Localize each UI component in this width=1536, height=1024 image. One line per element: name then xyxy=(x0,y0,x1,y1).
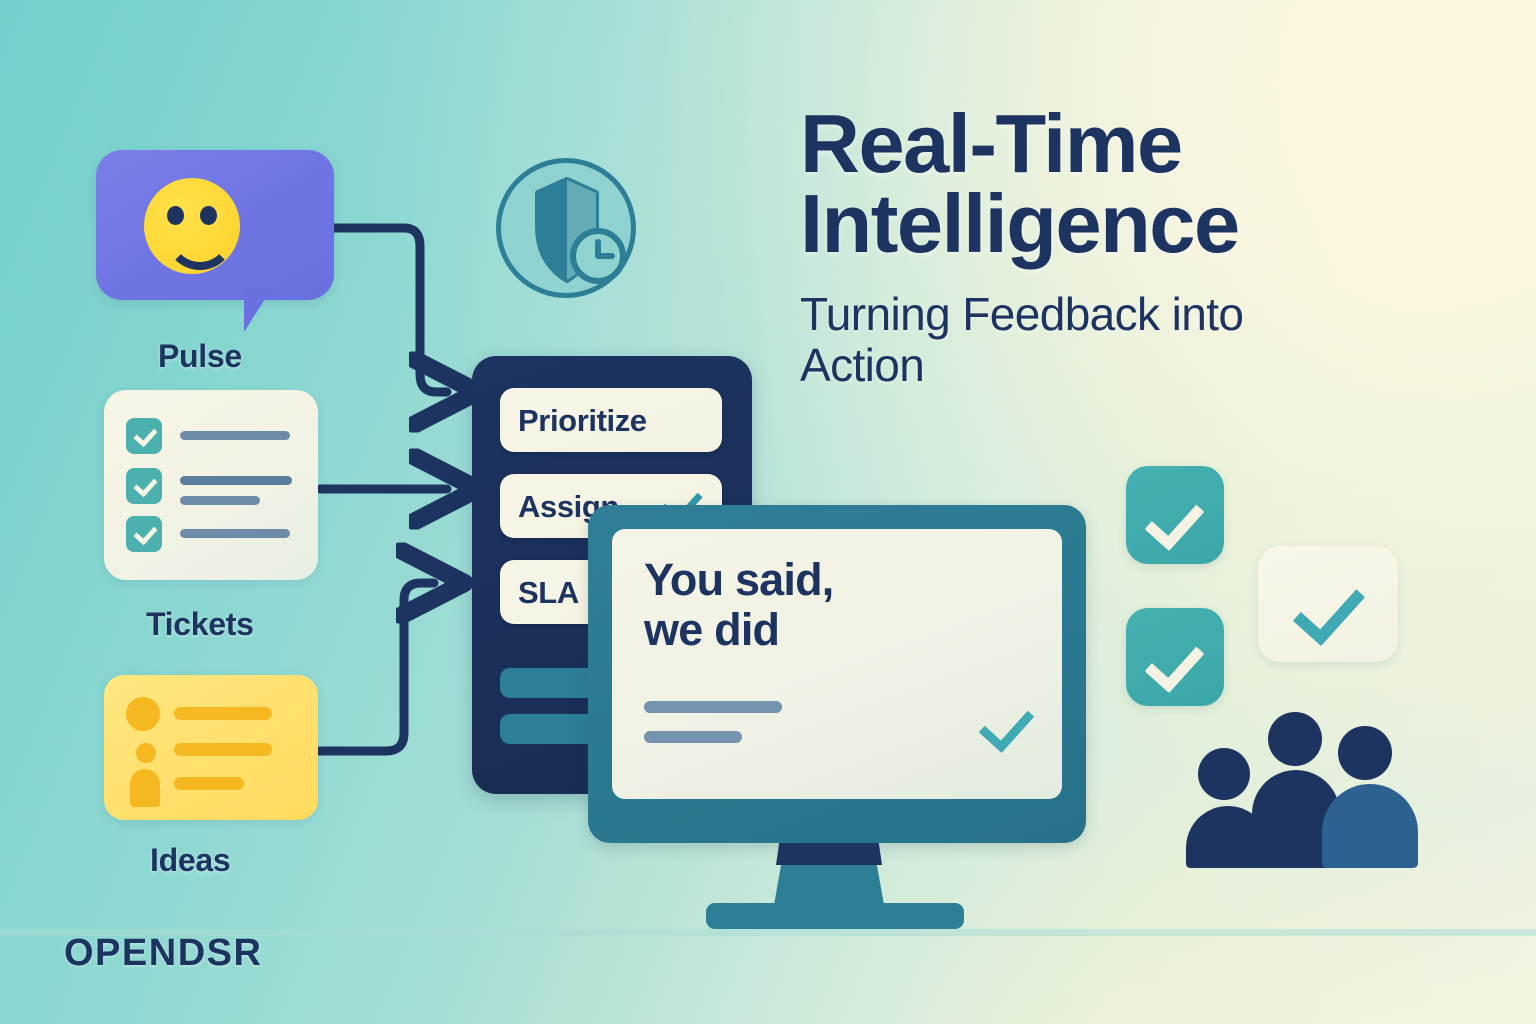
page-subtitle: Turning Feedback into Action xyxy=(800,289,1420,390)
ticket-checkbox-icon xyxy=(126,468,162,504)
shield-clock-glyph xyxy=(496,158,640,302)
person-head-left xyxy=(1198,748,1250,800)
shield-clock-icon xyxy=(496,158,640,302)
speech-bubble-tail xyxy=(244,288,278,332)
source-ideas-label: Ideas xyxy=(150,842,334,879)
monitor-screen: You said, we did xyxy=(612,529,1062,799)
people-group-icon xyxy=(1190,700,1440,870)
ticket-text-line xyxy=(180,476,292,485)
monitor-message: You said, we did xyxy=(644,555,834,654)
check-icon xyxy=(979,696,1035,753)
source-pulse-label: Pulse xyxy=(158,338,336,375)
smiley-speech-bubble-icon xyxy=(96,150,334,300)
connector-pulse xyxy=(334,228,447,392)
check-tile-1[interactable] xyxy=(1126,466,1224,564)
monitor-message-line1: You said, xyxy=(644,555,834,605)
check-tile-2[interactable] xyxy=(1126,608,1224,706)
ticket-text-line xyxy=(180,496,260,505)
check-icon xyxy=(1145,632,1205,693)
page-subtitle-line2: Action xyxy=(800,340,1420,391)
check-tile-3[interactable] xyxy=(1258,546,1398,662)
panel-chip-label: Prioritize xyxy=(518,405,647,436)
ticket-checkbox-icon xyxy=(126,516,162,552)
monitor-bezel: You said, we did xyxy=(588,505,1086,843)
brand-wordmark: OPENDSR xyxy=(64,932,262,975)
checklist-card-icon xyxy=(104,390,318,580)
smiley-face-icon xyxy=(144,178,240,274)
person-head-right xyxy=(1338,726,1392,780)
smiley-mouth xyxy=(165,224,235,270)
monitor-message-line2: we did xyxy=(644,605,834,655)
monitor-stand-neck-shadow xyxy=(776,843,882,865)
smiley-eye-right xyxy=(200,206,217,225)
idea-text-line xyxy=(174,707,272,720)
ticket-row xyxy=(126,468,162,504)
page-subtitle-line1: Turning Feedback into xyxy=(800,289,1420,340)
idea-bullet xyxy=(130,769,160,807)
ideas-list-card-icon xyxy=(104,675,318,820)
monitor-text-line xyxy=(644,731,742,743)
person-head-center xyxy=(1268,712,1322,766)
idea-text-line xyxy=(174,777,244,790)
check-icon xyxy=(1293,572,1365,646)
source-ideas[interactable]: Ideas xyxy=(104,675,334,879)
check-icon xyxy=(1145,490,1205,551)
idea-bullet xyxy=(136,743,156,763)
ticket-text-line xyxy=(180,529,290,538)
person-body-right xyxy=(1322,784,1418,868)
ticket-text-line xyxy=(180,431,290,440)
source-pulse[interactable]: Pulse xyxy=(96,150,336,375)
poster-canvas: Real-Time Intelligence Turning Feedback … xyxy=(0,0,1536,1024)
page-title-line1: Real-Time xyxy=(800,104,1420,184)
panel-chip-label: SLA xyxy=(518,577,579,608)
ticket-row xyxy=(126,516,162,552)
ticket-row xyxy=(126,418,162,454)
source-tickets[interactable]: Tickets xyxy=(104,390,334,643)
idea-bullet xyxy=(126,697,160,731)
monitor-text-line xyxy=(644,701,782,713)
monitor-stand-base xyxy=(706,903,964,929)
page-title-line2: Intelligence xyxy=(800,184,1420,264)
headline-block: Real-Time Intelligence Turning Feedback … xyxy=(800,104,1420,391)
smiley-eye-left xyxy=(167,206,184,225)
panel-chip-prioritize[interactable]: Prioritize xyxy=(500,388,722,452)
ticket-checkbox-icon xyxy=(126,418,162,454)
monitor: You said, we did xyxy=(588,505,1098,935)
source-tickets-label: Tickets xyxy=(146,606,334,643)
idea-text-line xyxy=(174,743,272,756)
